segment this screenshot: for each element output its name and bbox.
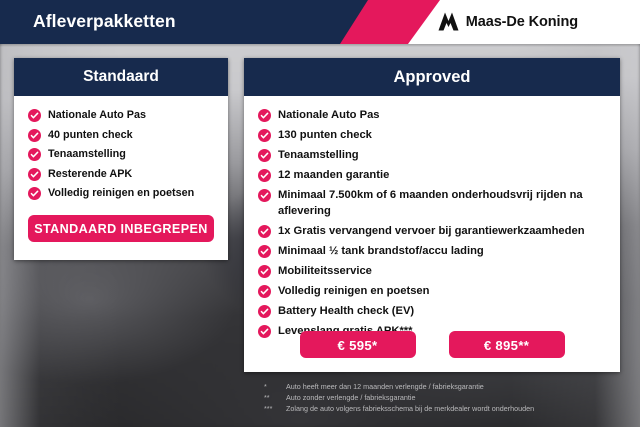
check-circle-icon <box>258 265 271 278</box>
maas-de-koning-m-mark-icon <box>438 12 459 31</box>
standaard-inbegrepen-button[interactable]: STANDAARD INBEGREPEN <box>28 215 214 242</box>
approved-card-title: Approved <box>244 58 620 96</box>
price-button-895[interactable]: € 895** <box>449 331 565 358</box>
list-item: 130 punten check <box>258 128 608 143</box>
brand-name: Maas-De Koning <box>466 14 578 30</box>
check-circle-icon <box>258 129 271 142</box>
list-item: Nationale Auto Pas <box>258 108 608 123</box>
feature-label: Tenaamstelling <box>48 147 126 162</box>
list-item: Nationale Auto Pas <box>28 108 218 123</box>
list-item: 1x Gratis vervangend vervoer bij garanti… <box>258 224 608 239</box>
footnote-text: Auto zonder verlengde / fabrieksgarantie <box>286 392 415 403</box>
footnote-text: Auto heeft meer dan 12 maanden verlengde… <box>286 381 484 392</box>
check-circle-icon <box>28 148 41 161</box>
footnote-marker: *** <box>264 403 286 414</box>
standaard-card-title: Standaard <box>14 58 228 96</box>
list-item: Tenaamstelling <box>258 148 608 163</box>
footnotes: * Auto heeft meer dan 12 maanden verleng… <box>264 381 634 414</box>
footnote-marker: * <box>264 381 286 392</box>
list-item: 40 punten check <box>28 128 218 143</box>
footnote-3: *** Zolang de auto volgens fabrieksschem… <box>264 403 634 414</box>
price-button-595[interactable]: € 595* <box>300 331 416 358</box>
feature-label: Resterende APK <box>48 167 132 182</box>
check-circle-icon <box>258 285 271 298</box>
standaard-feature-list: Nationale Auto Pas 40 punten check Tenaa… <box>14 96 228 201</box>
afleverpakketten-slide: Afleverpakketten Maas-De Koning Standaar… <box>0 0 640 427</box>
page-title: Afleverpakketten <box>33 11 176 32</box>
check-circle-icon <box>258 169 271 182</box>
footnote-marker: ** <box>264 392 286 403</box>
feature-label: Volledig reinigen en poetsen <box>278 284 429 299</box>
check-circle-icon <box>258 149 271 162</box>
list-item: Resterende APK <box>28 167 218 182</box>
check-circle-icon <box>258 225 271 238</box>
feature-label: 130 punten check <box>278 128 372 143</box>
list-item: Mobiliteitsservice <box>258 264 608 279</box>
feature-label: 1x Gratis vervangend vervoer bij garanti… <box>278 224 585 239</box>
feature-label: Volledig reinigen en poetsen <box>48 186 194 201</box>
check-circle-icon <box>258 305 271 318</box>
list-item: Tenaamstelling <box>28 147 218 162</box>
check-circle-icon <box>258 245 271 258</box>
feature-label: Minimaal 7.500km of 6 maanden onderhouds… <box>278 188 608 218</box>
check-circle-icon <box>258 189 271 202</box>
list-item: Minimaal 7.500km of 6 maanden onderhouds… <box>258 188 608 218</box>
standaard-card: Standaard Nationale Auto Pas 40 punten c… <box>14 58 228 260</box>
price-button-row: € 595* € 895** <box>244 331 620 358</box>
feature-label: Battery Health check (EV) <box>278 304 414 319</box>
list-item: Minimaal ½ tank brandstof/accu lading <box>258 244 608 259</box>
list-item: Battery Health check (EV) <box>258 304 608 319</box>
check-circle-icon <box>28 109 41 122</box>
feature-label: Nationale Auto Pas <box>48 108 146 123</box>
check-circle-icon <box>28 168 41 181</box>
feature-label: Mobiliteitsservice <box>278 264 372 279</box>
feature-label: Tenaamstelling <box>278 148 359 163</box>
check-circle-icon <box>28 187 41 200</box>
page-header: Afleverpakketten Maas-De Koning <box>0 0 640 44</box>
footnote-2: ** Auto zonder verlengde / fabrieksgaran… <box>264 392 634 403</box>
footnote-text: Zolang de auto volgens fabrieksschema bi… <box>286 403 534 414</box>
header-shadow <box>0 44 640 47</box>
footnote-1: * Auto heeft meer dan 12 maanden verleng… <box>264 381 634 392</box>
brand-lockup: Maas-De Koning <box>438 12 578 31</box>
list-item: Volledig reinigen en poetsen <box>28 186 218 201</box>
approved-feature-list: Nationale Auto Pas 130 punten check Tena… <box>244 96 620 339</box>
check-circle-icon <box>258 109 271 122</box>
feature-label: 12 maanden garantie <box>278 168 389 183</box>
check-circle-icon <box>28 129 41 142</box>
list-item: Volledig reinigen en poetsen <box>258 284 608 299</box>
list-item: 12 maanden garantie <box>258 168 608 183</box>
feature-label: Nationale Auto Pas <box>278 108 380 123</box>
feature-label: Minimaal ½ tank brandstof/accu lading <box>278 244 484 259</box>
approved-card: Approved Nationale Auto Pas 130 punten c… <box>244 58 620 372</box>
feature-label: 40 punten check <box>48 128 133 143</box>
